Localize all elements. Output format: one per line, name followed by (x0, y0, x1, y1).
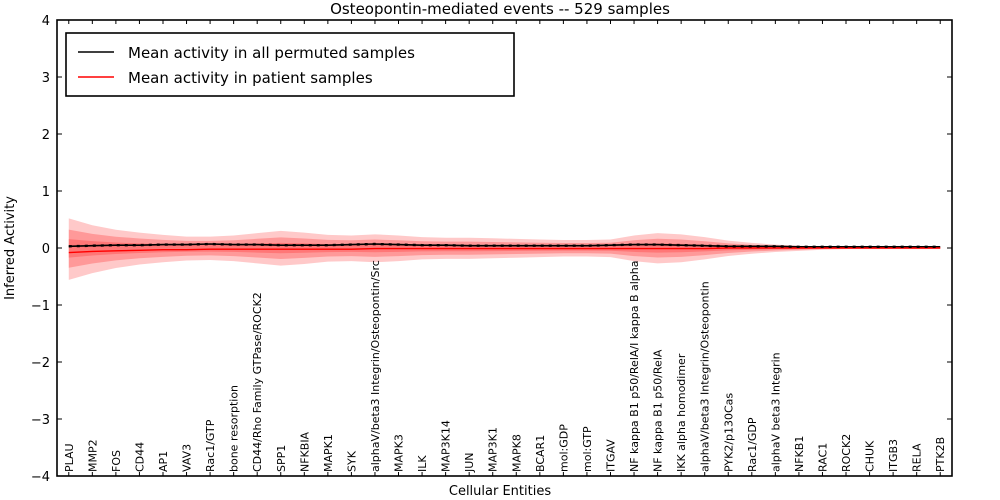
chart-canvas: Osteopontin-mediated events -- 529 sampl… (0, 0, 1000, 500)
x-tick-label: MAP3K1 (487, 427, 500, 472)
x-tick-label: PYK2/p130Cas (722, 393, 735, 472)
x-tick-label: SYK (345, 450, 358, 472)
legend-label-1: Mean activity in all permuted samples (128, 44, 415, 62)
y-tick-label: −2 (31, 356, 50, 371)
x-tick-label: Rac1/GTP (204, 419, 217, 472)
y-tick-label: 4 (42, 14, 50, 29)
x-tick-label: MMP2 (86, 439, 99, 472)
x-tick-label: VAV3 (181, 444, 194, 472)
x-tick-label: FOS (110, 450, 123, 472)
x-tick-label: mol:GDP (557, 424, 570, 472)
x-tick-label: SPP1 (275, 445, 288, 472)
x-tick-label: CHUK (864, 440, 877, 472)
y-tick-label: −3 (31, 413, 50, 428)
x-tick-label: alphaV beta3 Integrin (769, 352, 782, 472)
x-tick-label: IKK alpha homodimer (675, 353, 688, 472)
x-tick-label: ILK (416, 455, 429, 472)
x-tick-label: ROCK2 (840, 434, 853, 472)
x-tick-label: mol:GTP (581, 426, 594, 472)
x-tick-label: PLAU (63, 443, 76, 472)
x-tick-label: CD44/Rho Family GTPase/ROCK2 (251, 292, 264, 472)
x-tick-label: bone resorption (228, 385, 241, 472)
x-tick-label: PTK2B (934, 437, 947, 472)
x-tick-label: alphaV/beta3 Integrin/Osteopontin/Src (369, 260, 382, 472)
x-axis-label: Cellular Entities (449, 484, 551, 499)
y-tick-label: 2 (42, 128, 50, 143)
x-tick-label: MAP3K14 (440, 420, 453, 472)
y-axis-label: Inferred Activity (3, 196, 18, 300)
x-tick-label: CD44 (133, 442, 146, 472)
x-tick-label: ITGB3 (887, 439, 900, 472)
x-tick-label: NFKB1 (793, 436, 806, 472)
legend: Mean activity in all permuted samplesMea… (66, 33, 514, 96)
y-tick-label: 3 (42, 71, 50, 86)
chart-figure: Osteopontin-mediated events -- 529 sampl… (0, 0, 1000, 500)
legend-label-2: Mean activity in patient samples (128, 69, 373, 87)
x-tick-label: NFKBIA (298, 431, 311, 472)
x-tick-label: BCAR1 (534, 435, 547, 472)
x-tick-label: RAC1 (816, 443, 829, 472)
x-tick-label: Rac1/GDP (746, 417, 759, 472)
x-tick-label: JUN (463, 452, 476, 473)
x-tick-label: alphaV/beta3 Integrin/Osteopontin (699, 281, 712, 472)
y-tick-label: −4 (31, 470, 50, 485)
chart-title: Osteopontin-mediated events -- 529 sampl… (330, 0, 670, 18)
x-tick-label: NF kappa B1 p50/RelA (652, 349, 665, 472)
y-tick-label: −1 (31, 299, 50, 314)
x-tick-label: RELA (911, 443, 924, 472)
x-tick-label: AP1 (157, 451, 170, 472)
x-tick-label: MAPK1 (322, 434, 335, 472)
y-tick-label: 0 (42, 242, 50, 257)
x-tick-label: MAPK8 (510, 434, 523, 472)
x-tick-label: ITGAV (604, 439, 617, 472)
y-tick-label: 1 (42, 185, 50, 200)
x-tick-label: NF kappa B1 p50/RelA/I kappa B alpha (628, 261, 641, 473)
x-tick-label: MAPK3 (393, 434, 406, 472)
